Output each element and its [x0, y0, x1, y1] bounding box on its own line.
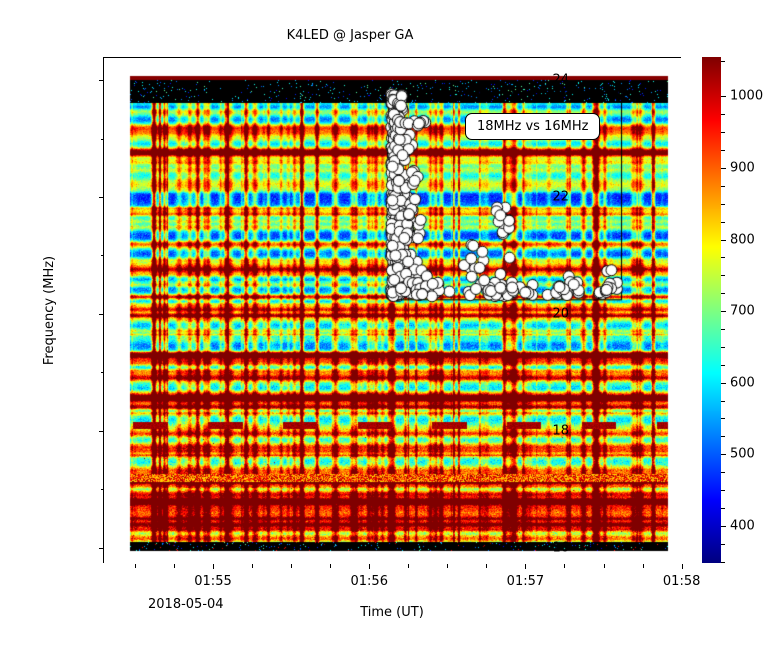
colorbar-tick-1050 — [721, 61, 725, 62]
colorbar-tick-825 — [721, 222, 725, 223]
x-tick-minor — [486, 564, 487, 568]
y-tick-24 — [99, 80, 104, 81]
y-tick-17 — [101, 489, 105, 490]
colorbar-tick-850 — [721, 204, 725, 205]
page-title: K4LED @ Jasper GA — [0, 28, 700, 43]
y-tick-label-16: 16 — [552, 540, 569, 555]
y-tick-label-18: 18 — [552, 423, 569, 438]
colorbar-tick-875 — [721, 186, 725, 187]
colorbar-tick-600 — [721, 383, 726, 384]
x-tick-01:56 — [369, 564, 370, 569]
colorbar-tick-500 — [721, 454, 726, 455]
colorbar-tick-675 — [721, 329, 725, 330]
colorbar-tick-900 — [721, 168, 726, 169]
x-tick-minor — [604, 564, 605, 568]
colorbar-tick-525 — [721, 436, 725, 437]
y-tick-20 — [99, 314, 104, 315]
colorbar-tick-800 — [721, 240, 726, 241]
x-tick-label-01:56: 01:56 — [351, 574, 388, 589]
colorbar-tick-700 — [721, 311, 726, 312]
colorbar-label-1000: 1000 — [730, 89, 763, 104]
x-tick-01:55 — [213, 564, 214, 569]
colorbar-tick-750 — [721, 275, 725, 276]
colorbar-label-700: 700 — [730, 304, 755, 319]
y-tick-22 — [99, 197, 104, 198]
x-tick-minor — [174, 564, 175, 568]
colorbar-label-500: 500 — [730, 447, 755, 462]
x-tick-minor — [135, 564, 136, 568]
y-axis-label: Frequency (MHz) — [40, 57, 60, 563]
x-tick-minor — [447, 564, 448, 568]
y-tick-label-22: 22 — [552, 190, 569, 205]
x-tick-label-01:55: 01:55 — [194, 574, 231, 589]
y-tick-label-20: 20 — [552, 306, 569, 321]
x-tick-label-01:57: 01:57 — [507, 574, 544, 589]
colorbar-tick-650 — [721, 347, 725, 348]
x-tick-minor — [564, 564, 565, 568]
colorbar-tick-925 — [721, 150, 725, 151]
x-tick-minor — [252, 564, 253, 568]
x-tick-minor — [330, 564, 331, 568]
colorbar-tick-550 — [721, 418, 725, 419]
y-tick-23 — [101, 139, 105, 140]
colorbar-label-800: 800 — [730, 232, 755, 247]
colorbar-tick-350 — [721, 562, 725, 563]
x-tick-minor — [408, 564, 409, 568]
colorbar-tick-425 — [721, 508, 725, 509]
colorbar-gradient — [702, 57, 721, 563]
colorbar-tick-475 — [721, 472, 725, 473]
colorbar-label-400: 400 — [730, 518, 755, 533]
colorbar-label-600: 600 — [730, 375, 755, 390]
date-label: 2018-05-04 — [148, 597, 224, 612]
colorbar-tick-625 — [721, 365, 725, 366]
colorbar-tick-450 — [721, 490, 725, 491]
annotation-label[interactable]: 18MHz vs 16MHz — [465, 113, 600, 140]
colorbar-tick-975 — [721, 114, 725, 115]
x-tick-minor — [291, 564, 292, 568]
colorbar-tick-375 — [721, 544, 725, 545]
colorbar-tick-1000 — [721, 96, 726, 97]
colorbar-label-900: 900 — [730, 160, 755, 175]
x-tick-label-01:58: 01:58 — [663, 574, 700, 589]
y-tick-label-24: 24 — [552, 73, 569, 88]
colorbar[interactable]: 1000900800700600500400 — [702, 57, 721, 563]
figure-canvas: K4LED @ Jasper GA 2422201816 01:5501:560… — [0, 0, 783, 656]
x-tick-01:57 — [525, 564, 526, 569]
y-axis-label-text: Frequency (MHz) — [43, 255, 58, 364]
colorbar-tick-775 — [721, 257, 725, 258]
colorbar-tick-400 — [721, 526, 726, 527]
y-tick-16 — [99, 548, 104, 549]
x-tick-01:58 — [682, 564, 683, 569]
y-tick-19 — [101, 372, 105, 373]
y-tick-18 — [99, 431, 104, 432]
colorbar-tick-575 — [721, 401, 725, 402]
colorbar-tick-725 — [721, 293, 725, 294]
colorbar-tick-950 — [721, 132, 725, 133]
y-tick-21 — [101, 255, 105, 256]
x-tick-minor — [643, 564, 644, 568]
